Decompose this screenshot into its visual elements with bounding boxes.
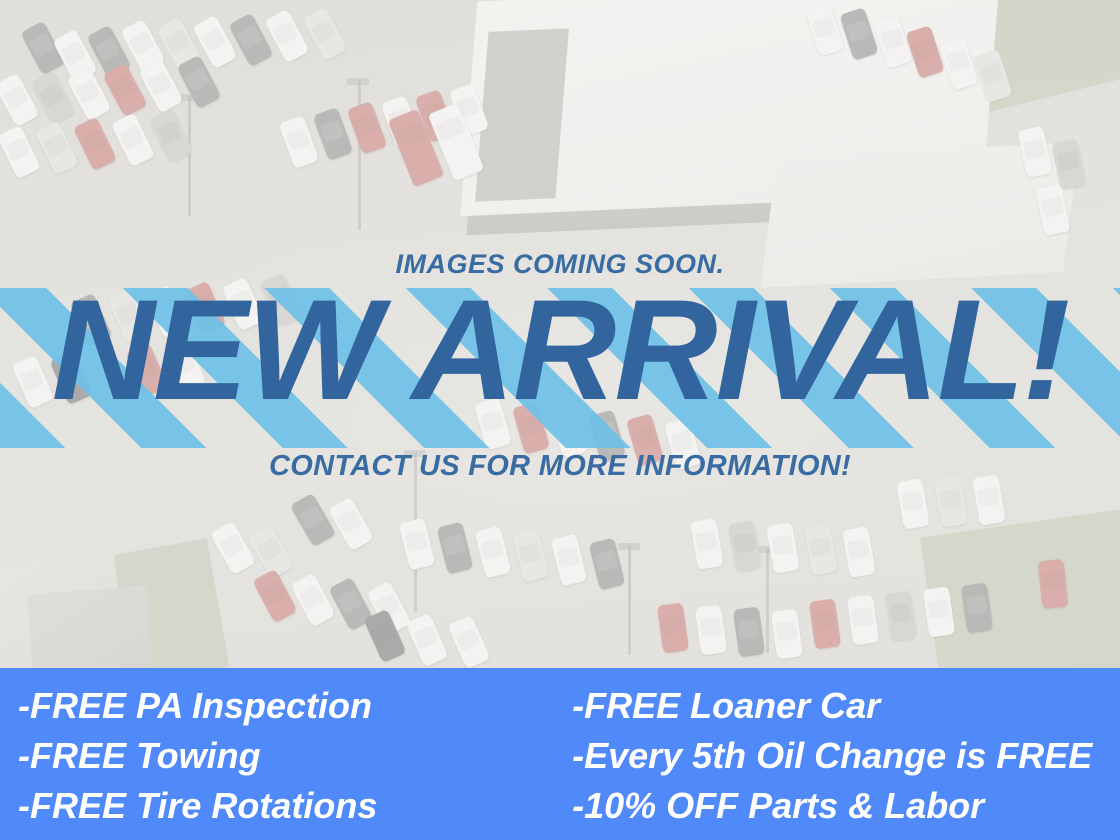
offer-item: -10% OFF Parts & Labor	[572, 781, 1120, 831]
warehouse-shadow-side	[475, 28, 569, 201]
shed-building	[27, 586, 153, 672]
light-pole	[628, 545, 631, 655]
offers-right-column: -FREE Loaner Car -Every 5th Oil Change i…	[554, 668, 1120, 840]
offer-item: -FREE Tire Rotations	[18, 781, 554, 831]
offer-item: -FREE PA Inspection	[18, 681, 554, 731]
light-pole	[766, 548, 769, 653]
light-pole-head	[347, 78, 369, 85]
diagonal-stripe-band	[0, 288, 1120, 448]
light-pole-head	[404, 450, 426, 457]
parked-car	[1038, 559, 1069, 609]
offers-left-column: -FREE PA Inspection -FREE Towing -FREE T…	[0, 668, 554, 840]
offer-item: -FREE Loaner Car	[572, 681, 1120, 731]
light-pole	[358, 80, 361, 230]
new-arrival-placeholder-image: IMAGES COMING SOON. NEW ARRIVAL! CONTACT…	[0, 0, 1120, 840]
offer-item: -FREE Towing	[18, 731, 554, 781]
light-pole-head	[618, 543, 640, 550]
light-pole	[188, 96, 191, 216]
offer-item: -Every 5th Oil Change is FREE	[572, 731, 1120, 781]
service-offers-banner: -FREE PA Inspection -FREE Towing -FREE T…	[0, 668, 1120, 840]
